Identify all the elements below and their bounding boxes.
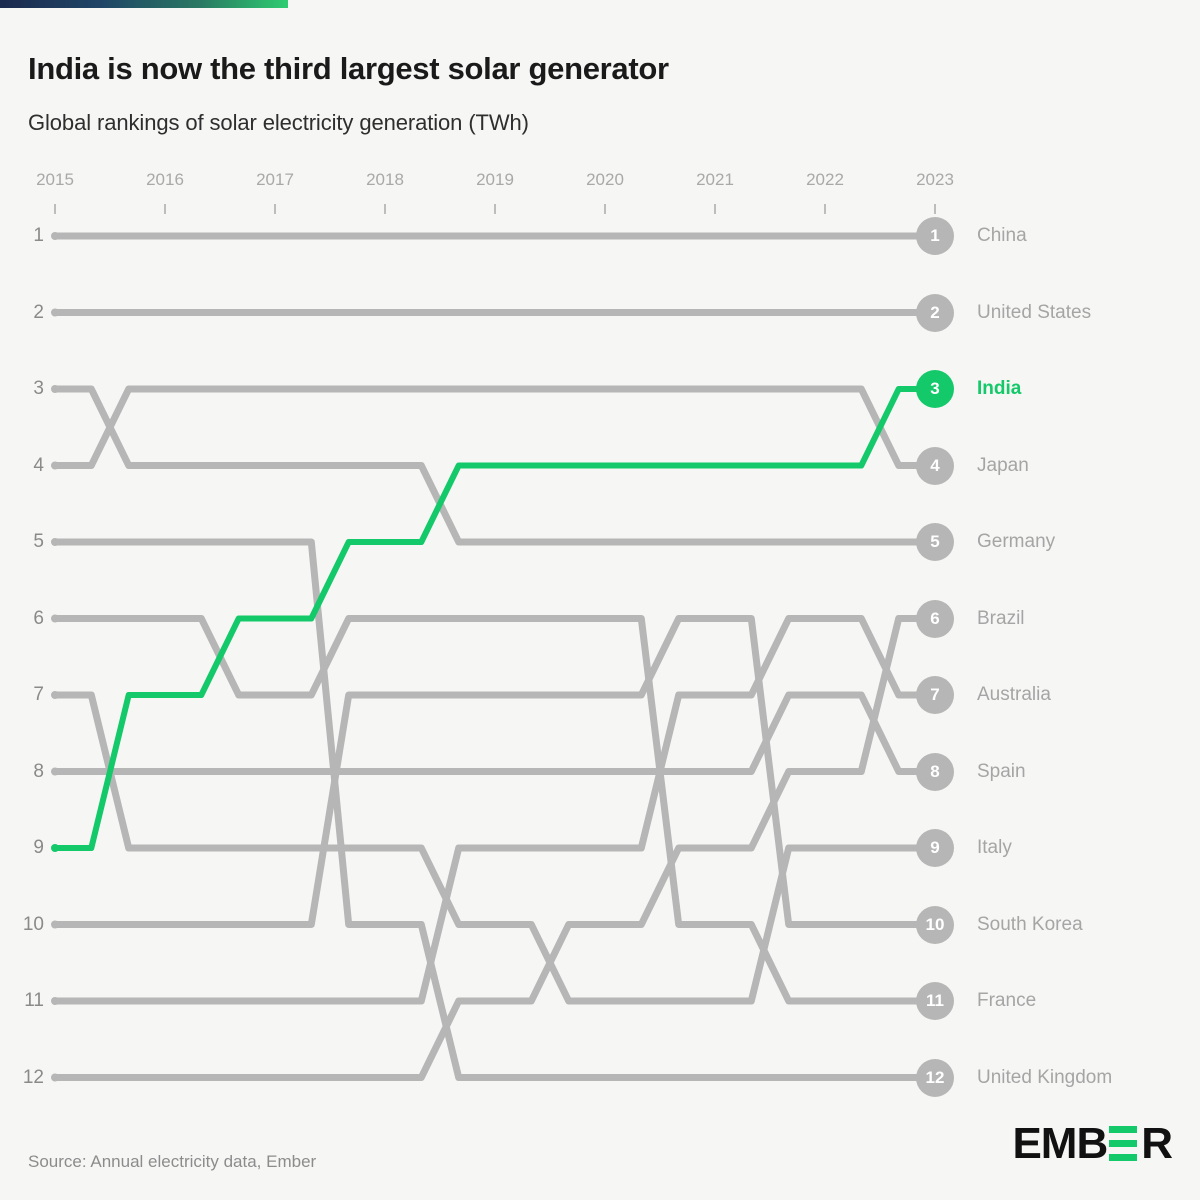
x-axis-year-label: 2016 [146, 170, 184, 190]
logo-text-left: EMB [1012, 1122, 1107, 1166]
rank-line [55, 619, 935, 925]
x-axis-ticks [55, 204, 935, 214]
country-label[interactable]: Brazil [977, 608, 1025, 630]
page-subtitle: Global rankings of solar electricity gen… [28, 110, 1128, 136]
ember-logo: EMB R [1012, 1122, 1172, 1166]
y-axis-rank-label: 7 [33, 684, 44, 706]
rank-line [55, 695, 935, 772]
rank-endpoint-node[interactable]: 1 [916, 217, 954, 255]
y-axis-rank-label: 5 [33, 531, 44, 553]
y-axis-rank-label: 2 [33, 302, 44, 324]
country-label[interactable]: South Korea [977, 914, 1083, 936]
x-axis-year-label: 2021 [696, 170, 734, 190]
rank-line-start-cap [51, 309, 59, 317]
rank-endpoint-node[interactable]: 3 [916, 370, 954, 408]
rank-line [55, 389, 935, 466]
rank-line-start-cap [51, 844, 59, 852]
country-label[interactable]: France [977, 990, 1036, 1012]
rank-line-start-cap [51, 1074, 59, 1082]
y-axis-rank-label: 12 [23, 1067, 44, 1089]
rank-line-start-cap [51, 997, 59, 1005]
rank-line [55, 542, 935, 1078]
rank-line-start-cap [51, 768, 59, 776]
x-axis-year-label: 2023 [916, 170, 954, 190]
country-label[interactable]: China [977, 225, 1027, 247]
rank-endpoint-node[interactable]: 7 [916, 676, 954, 714]
country-label[interactable]: Germany [977, 531, 1055, 553]
y-axis-rank-label: 9 [33, 837, 44, 859]
page-title: India is now the third largest solar gen… [28, 51, 1128, 87]
rank-endpoint-node[interactable]: 5 [916, 523, 954, 561]
x-axis-year-label: 2022 [806, 170, 844, 190]
rank-endpoint-node[interactable]: 4 [916, 447, 954, 485]
rank-endpoint-node[interactable]: 2 [916, 294, 954, 332]
rank-endpoint-node[interactable]: 6 [916, 600, 954, 638]
rank-endpoint-node[interactable]: 12 [916, 1059, 954, 1097]
country-label[interactable]: Australia [977, 684, 1051, 706]
rank-line [55, 619, 935, 1002]
rank-line [55, 619, 935, 1078]
logo-e-icon [1109, 1124, 1139, 1164]
x-axis-year-label: 2018 [366, 170, 404, 190]
country-label[interactable]: United Kingdom [977, 1067, 1112, 1089]
country-label[interactable]: United States [977, 302, 1091, 324]
x-axis-year-label: 2019 [476, 170, 514, 190]
y-axis-rank-label: 10 [23, 914, 44, 936]
x-axis-year-label: 2015 [36, 170, 74, 190]
rank-line-start-cap [51, 385, 59, 393]
source-note: Source: Annual electricity data, Ember [28, 1152, 316, 1172]
y-axis-rank-label: 1 [33, 225, 44, 247]
rank-line [55, 695, 935, 1001]
rank-line-start-cap [51, 538, 59, 546]
y-axis-rank-label: 11 [24, 990, 44, 1012]
country-label[interactable]: India [977, 378, 1021, 400]
rank-endpoint-node[interactable]: 11 [916, 982, 954, 1020]
y-axis-rank-label: 3 [33, 378, 44, 400]
country-label[interactable]: Japan [977, 455, 1029, 477]
rank-endpoint-node[interactable]: 9 [916, 829, 954, 867]
rank-line-start-cap [51, 921, 59, 929]
y-axis-rank-label: 4 [33, 455, 44, 477]
rank-line-start-cap [51, 462, 59, 470]
rank-line [55, 389, 935, 542]
rank-line-start-cap [51, 232, 59, 240]
rank-endpoint-node[interactable]: 10 [916, 906, 954, 944]
y-axis-rank-label: 8 [33, 761, 44, 783]
rank-line-start-cap [51, 615, 59, 623]
country-label[interactable]: Italy [977, 837, 1012, 859]
country-label[interactable]: Spain [977, 761, 1026, 783]
brand-accent-bar [0, 0, 288, 8]
x-axis-year-label: 2020 [586, 170, 624, 190]
rank-line-start-cap [51, 691, 59, 699]
rank-line [55, 619, 935, 1002]
rank-line [55, 389, 935, 848]
logo-text-right: R [1141, 1122, 1172, 1166]
x-axis-year-label: 2017 [256, 170, 294, 190]
y-axis-rank-label: 6 [33, 608, 44, 630]
rank-lines [51, 232, 935, 1082]
rank-endpoint-node[interactable]: 8 [916, 753, 954, 791]
